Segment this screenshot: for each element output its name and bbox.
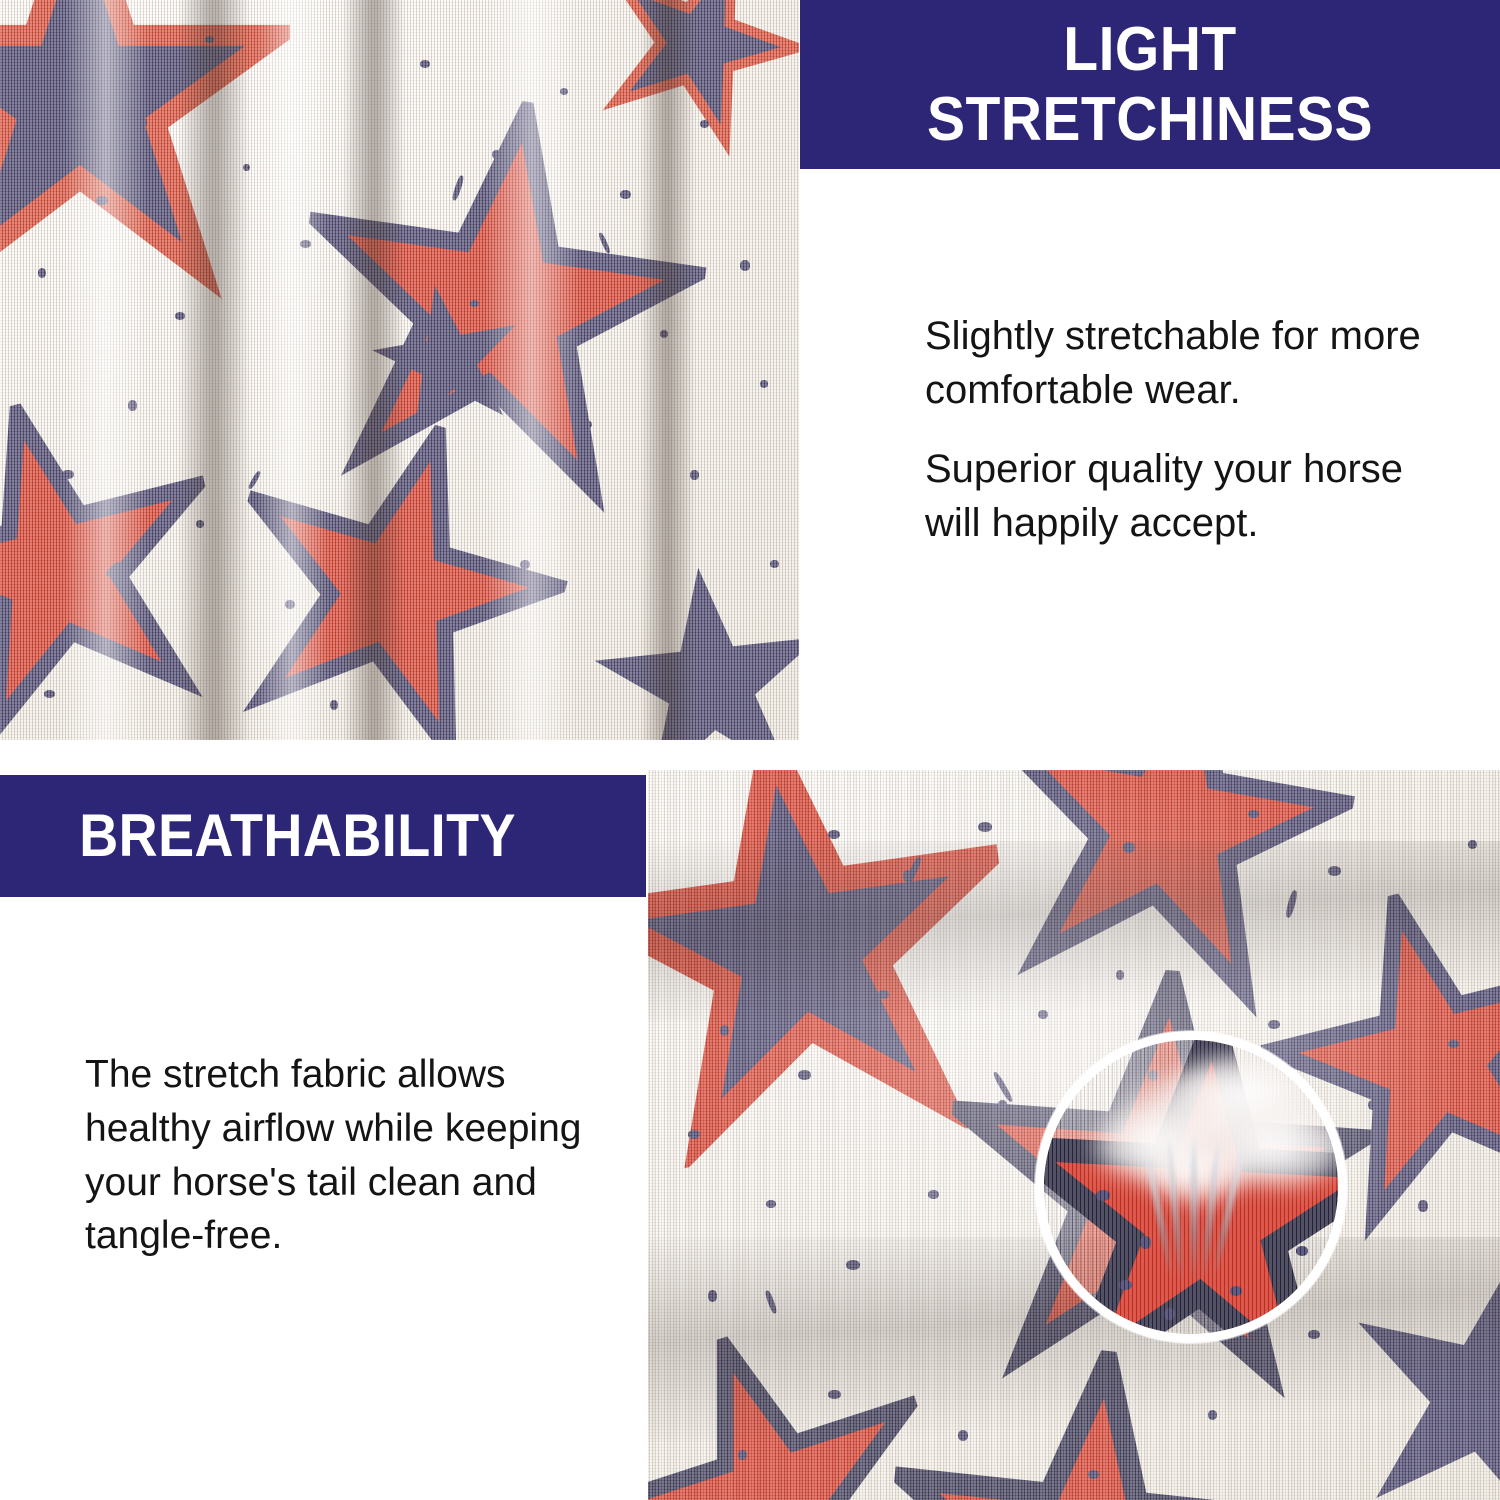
- fabric-photo-bottom-right: [648, 770, 1500, 1500]
- banner-top-title-line2: STRETCHINESS: [828, 85, 1472, 154]
- airflow-jet: [1190, 1136, 1198, 1288]
- fabric-photo-top-left: [0, 0, 799, 740]
- airflow-detail-magnifier: [1035, 1031, 1347, 1343]
- banner-bottom-title: BREATHABILITY: [0, 802, 581, 869]
- star-navy-large: [0, 0, 290, 300]
- banner-top-title: LIGHT STRETCHINESS: [828, 15, 1472, 154]
- bottom-body-text: The stretch fabric allows healthy airflo…: [85, 1048, 630, 1263]
- banner-breathability: BREATHABILITY: [0, 775, 646, 897]
- infographic-page: LIGHT STRETCHINESS Slightly stretchable …: [0, 0, 1500, 1500]
- top-body-text: Slightly stretchable for more comfortabl…: [925, 310, 1465, 550]
- banner-light-stretchiness: LIGHT STRETCHINESS: [800, 0, 1500, 169]
- top-body-paragraph-1: Slightly stretchable for more comfortabl…: [925, 310, 1465, 417]
- star-navy-bottom-right: [578, 548, 799, 740]
- bottom-body-paragraph-1: The stretch fabric allows healthy airflo…: [85, 1048, 630, 1263]
- magnifier-content: [1044, 1040, 1338, 1334]
- banner-top-title-line1: LIGHT: [828, 15, 1472, 84]
- top-body-paragraph-2: Superior quality your horse will happily…: [925, 443, 1465, 550]
